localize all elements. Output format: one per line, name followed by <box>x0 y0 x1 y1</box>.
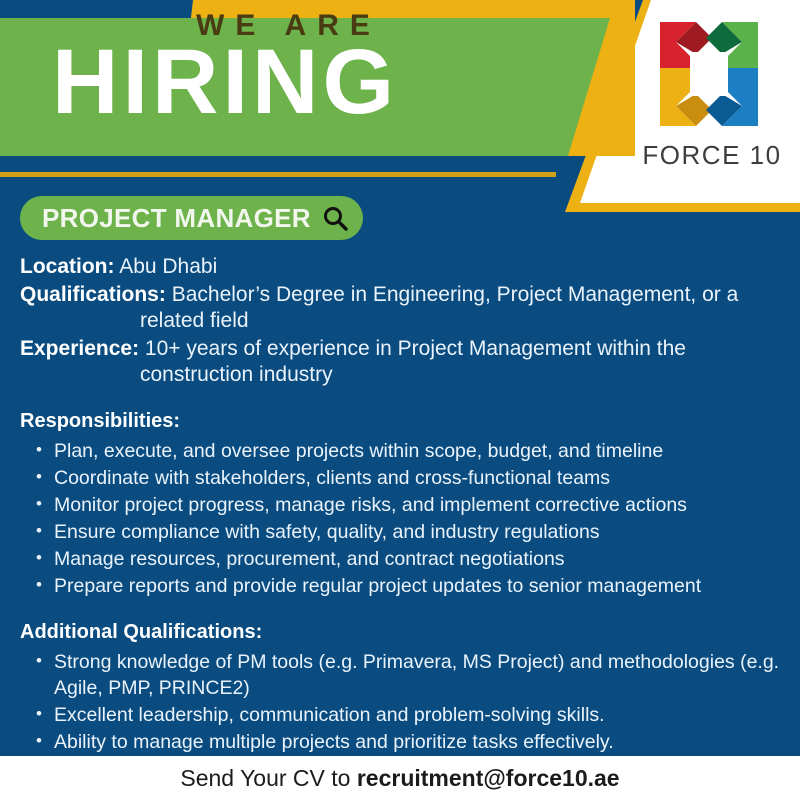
list-item: Ability to manage multiple projects and … <box>34 729 780 755</box>
job-title-badge[interactable]: PROJECT MANAGER <box>20 196 363 240</box>
cv-instruction-lead: Send Your CV to <box>180 765 356 791</box>
field-qualifications: Qualifications: Bachelor’s Degree in Eng… <box>20 282 780 334</box>
list-item: Strong knowledge of PM tools (e.g. Prima… <box>34 649 780 701</box>
list-item: Monitor project progress, manage risks, … <box>34 492 780 518</box>
cv-email[interactable]: recruitment@force10.ae <box>357 765 620 791</box>
list-item: Coordinate with stakeholders, clients an… <box>34 465 780 491</box>
list-item: Ensure compliance with safety, quality, … <box>34 519 780 545</box>
field-experience: Experience: 10+ years of experience in P… <box>20 336 780 388</box>
header-gold-rule <box>0 172 556 177</box>
force10-x-logo-icon <box>650 18 768 130</box>
poster-footer: Send Your CV to recruitment@force10.ae <box>0 753 800 800</box>
responsibilities-list: Plan, execute, and oversee projects with… <box>34 438 780 599</box>
field-experience-continuation: construction industry <box>20 362 780 388</box>
section-heading-responsibilities: Responsibilities: <box>20 410 780 433</box>
poster-header: WE ARE HIRING FORCE 10 <box>0 0 800 212</box>
page-title: HIRING <box>52 36 398 128</box>
field-qualifications-label: Qualifications: <box>20 283 166 306</box>
section-heading-additional-qualifications: Additional Qualifications: <box>20 621 780 644</box>
field-experience-label: Experience: <box>20 337 139 360</box>
job-title-label: PROJECT MANAGER <box>42 203 311 234</box>
list-item: Prepare reports and provide regular proj… <box>34 573 780 599</box>
job-details: Location: Abu Dhabi Qualifications: Bach… <box>20 254 780 756</box>
list-item: Excellent leadership, communication and … <box>34 702 780 728</box>
cv-instruction: Send Your CV to recruitment@force10.ae <box>180 765 619 792</box>
magnifying-glass-icon <box>321 204 349 232</box>
hiring-poster: WE ARE HIRING FORCE 10 <box>0 0 800 800</box>
additional-qualifications-list: Strong knowledge of PM tools (e.g. Prima… <box>34 649 780 755</box>
list-item: Manage resources, procurement, and contr… <box>34 546 780 572</box>
field-location-label: Location: <box>20 255 115 278</box>
list-item: Plan, execute, and oversee projects with… <box>34 438 780 464</box>
field-location-value: Abu Dhabi <box>119 255 217 278</box>
field-qualifications-continuation: related field <box>20 308 780 334</box>
logo-wordmark: FORCE 10 <box>632 140 792 171</box>
field-location: Location: Abu Dhabi <box>20 254 780 280</box>
field-experience-value: 10+ years of experience in Project Manag… <box>145 337 686 360</box>
field-qualifications-value: Bachelor’s Degree in Engineering, Projec… <box>172 283 739 306</box>
